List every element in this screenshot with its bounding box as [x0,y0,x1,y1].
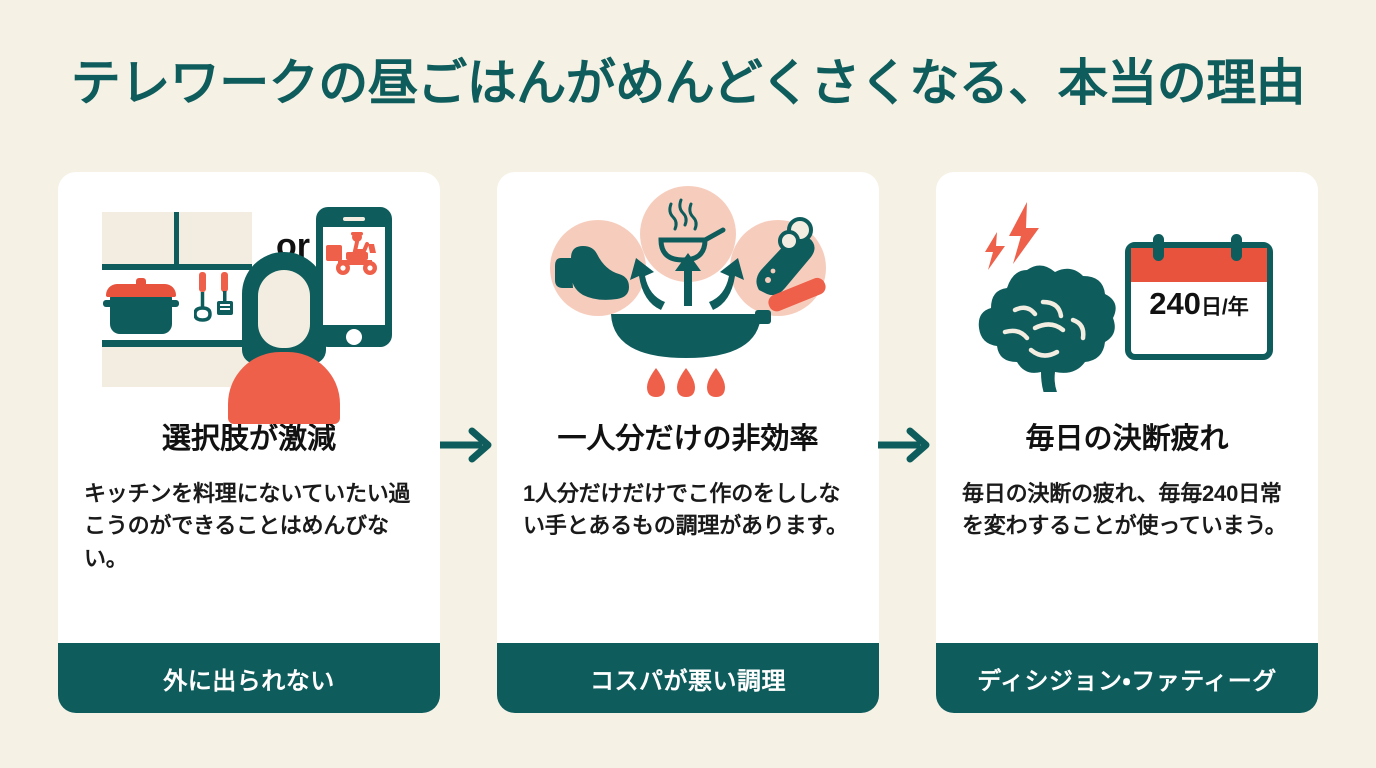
cards-row: or [58,172,1318,713]
card-footer-badge[interactable]: コスパが悪い調理 [497,643,879,713]
card-2-body: 一人分だけの非効率 1人分だけだけでこ作のをししない手とあるもの調理があります。 [497,422,879,643]
card-footer-badge[interactable]: ディシジョン・ファティーグ [936,643,1318,713]
card-description: 1人分だけだけでこ作のをししない手とあるもの調理があります。 [523,478,853,543]
calendar-value: 240日/年 [1131,286,1267,322]
card-decision-fatigue[interactable]: 240日/年 毎日の決断疲れ 毎日の決断の疲れ、毎毎240日常を変わすることが使… [936,172,1318,713]
card-description: 毎日の決断の疲れ、毎毎240日常を変わすることが使っていまう。 [962,478,1292,543]
page-title: テレワークの昼ごはんがめんどくさくなる、本当の理由 [0,56,1376,111]
calendar-number: 240 [1149,286,1201,321]
card-footer-badge[interactable]: 外に出られない [58,643,440,713]
calendar-icon: 240日/年 [1125,242,1273,360]
arrow-right-icon [878,420,936,470]
card-choice-reduction[interactable]: or [58,172,440,713]
card-heading: 一人分だけの非効率 [523,424,853,456]
smartphone-icon [316,207,392,347]
card-heading: 毎日の決断疲れ [962,424,1292,456]
calendar-unit: 日/年 [1201,296,1249,319]
ladle-icon [194,272,212,322]
arrow-right-icon [440,420,498,470]
card-3-illustration: 240日/年 [936,172,1318,422]
brain-icon [979,265,1116,392]
lightning-bolt-icon [985,202,1039,270]
brain-calendar-group: 240日/年 [957,192,1297,402]
flame-icon [647,368,725,397]
card-1-body: 選択肢が激減 キッチンを料理にないていたい過こうのができることはめんびない。 [58,422,440,643]
card-3-body: 毎日の決断疲れ 毎日の決断の疲れ、毎毎240日常を変わすることが使っていまう。 [936,422,1318,643]
cooking-scene-group [523,186,853,418]
delivery-scooter-icon [324,231,384,281]
brain-group [957,192,1132,392]
card-2-illustration [497,172,879,422]
card-heading: 選択肢が激減 [84,424,414,456]
card-1-illustration: or [58,172,440,422]
card-single-portion-inefficiency[interactable]: 一人分だけの非効率 1人分だけだけでこ作のをししない手とあるもの調理があります。… [497,172,879,713]
card-description: キッチンを料理にないていたい過こうのができることはめんびない。 [84,478,414,576]
